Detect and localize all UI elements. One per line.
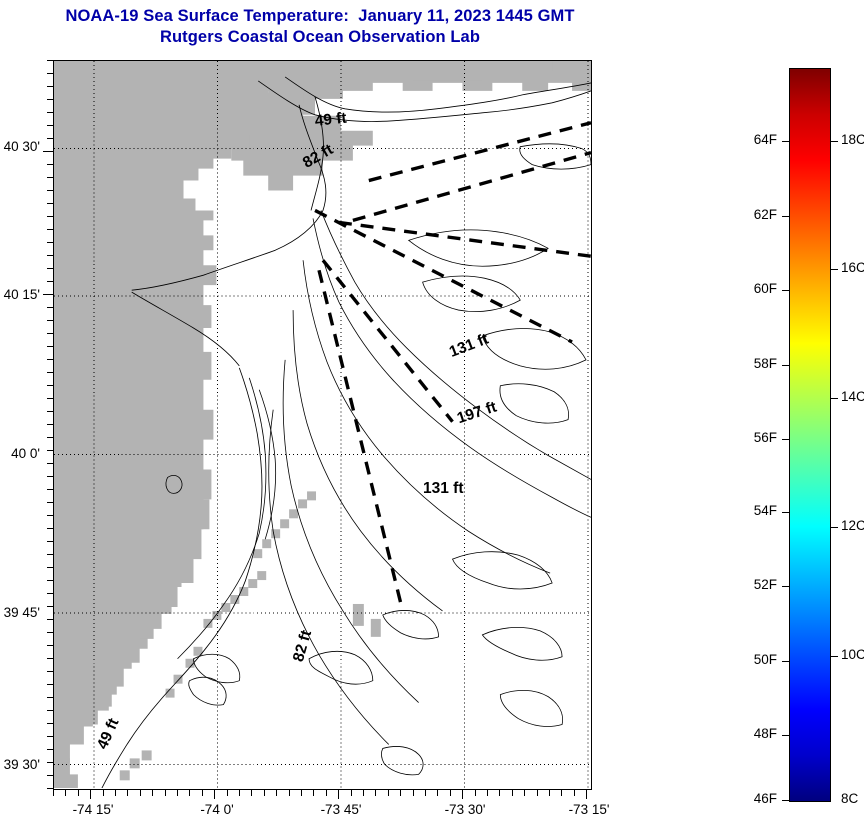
y-tick [47,255,53,256]
x-tick [276,790,277,796]
y-tick [47,723,53,724]
colorbar-tick-c-4 [831,656,838,657]
y-tick [47,112,53,113]
x-tick [586,790,587,799]
x-axis-label-3: -73 30' [420,802,510,817]
colorbar-label-c-3: 12C [841,518,864,533]
x-tick [351,790,352,796]
colorbar-tick-f-4 [782,439,789,440]
y-tick [47,203,53,204]
page-subtitle: Rutgers Coastal Ocean Observation Lab [0,27,640,48]
contour-patch-10 [193,654,239,682]
y-tick [47,242,53,243]
x-tick [413,790,414,796]
x-tick [189,790,190,796]
y-tick [47,424,53,425]
colorbar-tick-c-1 [831,269,838,270]
y-tick [47,528,53,529]
y-tick [47,372,53,373]
y-tick [47,385,53,386]
colorbar-label-f-1: 62F [717,207,777,222]
y-tick [47,177,53,178]
colorbar-tick-c-2 [831,398,838,399]
x-tick [177,790,178,796]
x-tick [289,790,290,796]
x-tick [214,790,215,799]
x-tick [524,790,525,796]
y-tick [47,73,53,74]
page-title: NOAA-19 Sea Surface Temperature: January… [0,6,640,27]
x-tick [574,790,575,796]
colorbar-tick-f-7 [782,661,789,662]
y-tick [47,593,53,594]
colorbar-tick-f-6 [782,586,789,587]
y-tick [47,515,53,516]
sst-map-figure: 49 ft 82 ft 131 ft 197 ft 131 ft 82 ft 4… [53,60,592,790]
temperature-colorbar[interactable] [789,68,831,802]
x-tick [475,790,476,796]
y-tick [47,580,53,581]
y-tick [47,125,53,126]
colorbar-tick-f-5 [782,512,789,513]
colorbar-tick-f-1 [782,216,789,217]
y-tick [47,567,53,568]
x-axis-label-0: -74 15' [48,802,138,817]
y-tick [47,476,53,477]
x-tick [487,790,488,796]
x-tick [375,790,376,796]
contour-shelf-s [293,310,442,611]
y-axis-label-2: 40 0' [0,446,40,461]
y-tick [43,151,53,152]
y-tick [47,359,53,360]
y-tick [47,99,53,100]
x-tick [549,790,550,796]
colorbar-label-f-6: 52F [717,577,777,592]
contour-patch-9 [383,610,439,638]
x-tick [561,790,562,796]
map-graphics [54,61,591,788]
contour-patch-5 [453,552,553,589]
colorbar-label-f-8: 48F [717,726,777,741]
x-tick [152,790,153,796]
y-tick [47,619,53,620]
colorbar-tick-f-0 [782,141,789,142]
transect-line-2 [353,153,591,221]
x-tick [103,790,104,796]
x-tick [127,790,128,796]
x-tick [326,790,327,796]
y-tick [47,606,53,607]
colorbar-label-c-0: 18C [841,132,864,147]
y-tick [47,632,53,633]
colorbar-label-c-2: 14C [841,389,864,404]
y-tick [47,60,53,61]
colorbar-tick-f-9 [782,800,789,801]
contour-patch-11 [520,144,591,169]
x-tick [239,790,240,796]
y-tick [47,658,53,659]
y-tick [47,554,53,555]
x-tick [313,790,314,796]
map-plot-area[interactable]: 49 ft 82 ft 131 ft 197 ft 131 ft 82 ft 4… [53,60,592,790]
x-tick [78,790,79,796]
x-tick [301,790,302,796]
x-axis-label-2: -73 45' [296,802,386,817]
y-axis-label-1: 40 15' [0,287,40,302]
y-tick [47,502,53,503]
x-tick [202,790,203,796]
y-axis-label-4: 39 30' [0,757,40,772]
transect-line-1 [369,123,591,181]
y-axis-label-3: 39 45' [0,605,40,620]
x-tick [363,790,364,796]
chart-title-block: NOAA-19 Sea Surface Temperature: January… [0,6,640,48]
y-tick [47,229,53,230]
x-tick [115,790,116,796]
depth-label-131ft-south: 131 ft [423,480,464,498]
colorbar-label-c-5: 8C [841,791,864,806]
y-tick [47,138,53,139]
contour-patch-7 [500,690,562,726]
colorbar-gradient [789,68,831,802]
y-tick [47,541,53,542]
y-tick [47,320,53,321]
contour-patch-12 [189,677,226,705]
x-tick [462,790,463,799]
colorbar-label-f-2: 60F [717,281,777,296]
y-tick [47,450,53,451]
y-tick [47,788,53,789]
x-tick [338,790,339,799]
y-tick [47,645,53,646]
x-tick [227,790,228,796]
y-tick [47,281,53,282]
y-tick [47,749,53,750]
y-tick [47,86,53,87]
transect-line-3 [339,222,591,256]
x-tick [388,790,389,796]
y-tick [47,268,53,269]
y-tick [47,762,53,763]
colorbar-tick-c-3 [831,527,838,528]
colorbar-label-f-0: 64F [717,132,777,147]
x-tick [251,790,252,796]
y-tick [43,294,53,295]
x-tick [450,790,451,796]
y-tick [47,671,53,672]
colorbar-tick-f-3 [782,365,789,366]
contour-patch-6 [482,627,562,660]
y-tick [47,736,53,737]
x-tick [90,790,91,799]
x-tick [264,790,265,796]
contour-islet-2 [381,746,423,774]
y-tick [47,346,53,347]
y-tick [47,697,53,698]
y-axis-label-0: 40 30' [0,139,40,154]
y-tick [47,411,53,412]
y-tick [47,775,53,776]
y-tick [47,333,53,334]
y-tick [47,307,53,308]
x-tick [437,790,438,796]
colorbar-label-c-4: 10C [841,647,864,662]
y-tick [47,489,53,490]
y-tick [47,437,53,438]
x-axis-label-4: -73 15' [544,802,634,817]
colorbar-tick-f-2 [782,290,789,291]
colorbar-label-f-4: 56F [717,430,777,445]
x-axis-label-1: -74 0' [172,802,262,817]
y-tick [47,216,53,217]
x-tick [165,790,166,796]
colorbar-tick-f-8 [782,735,789,736]
colorbar-label-f-7: 50F [717,652,777,667]
y-tick [47,684,53,685]
depth-label-49ft-north: 49 ft [314,110,348,131]
colorbar-tick-c-0 [831,141,838,142]
transect-line-4 [315,210,572,342]
y-tick [47,164,53,165]
x-tick [140,790,141,796]
x-tick [65,790,66,796]
x-tick [537,790,538,796]
x-tick [53,790,54,796]
x-tick [400,790,401,796]
colorbar-label-c-1: 16C [841,260,864,275]
y-tick [47,190,53,191]
colorbar-label-f-9: 46F [717,791,777,806]
x-tick [512,790,513,796]
x-tick [425,790,426,796]
y-tick [47,463,53,464]
colorbar-label-f-3: 58F [717,356,777,371]
x-tick [499,790,500,796]
y-tick [47,398,53,399]
y-tick [47,710,53,711]
colorbar-label-f-5: 54F [717,503,777,518]
